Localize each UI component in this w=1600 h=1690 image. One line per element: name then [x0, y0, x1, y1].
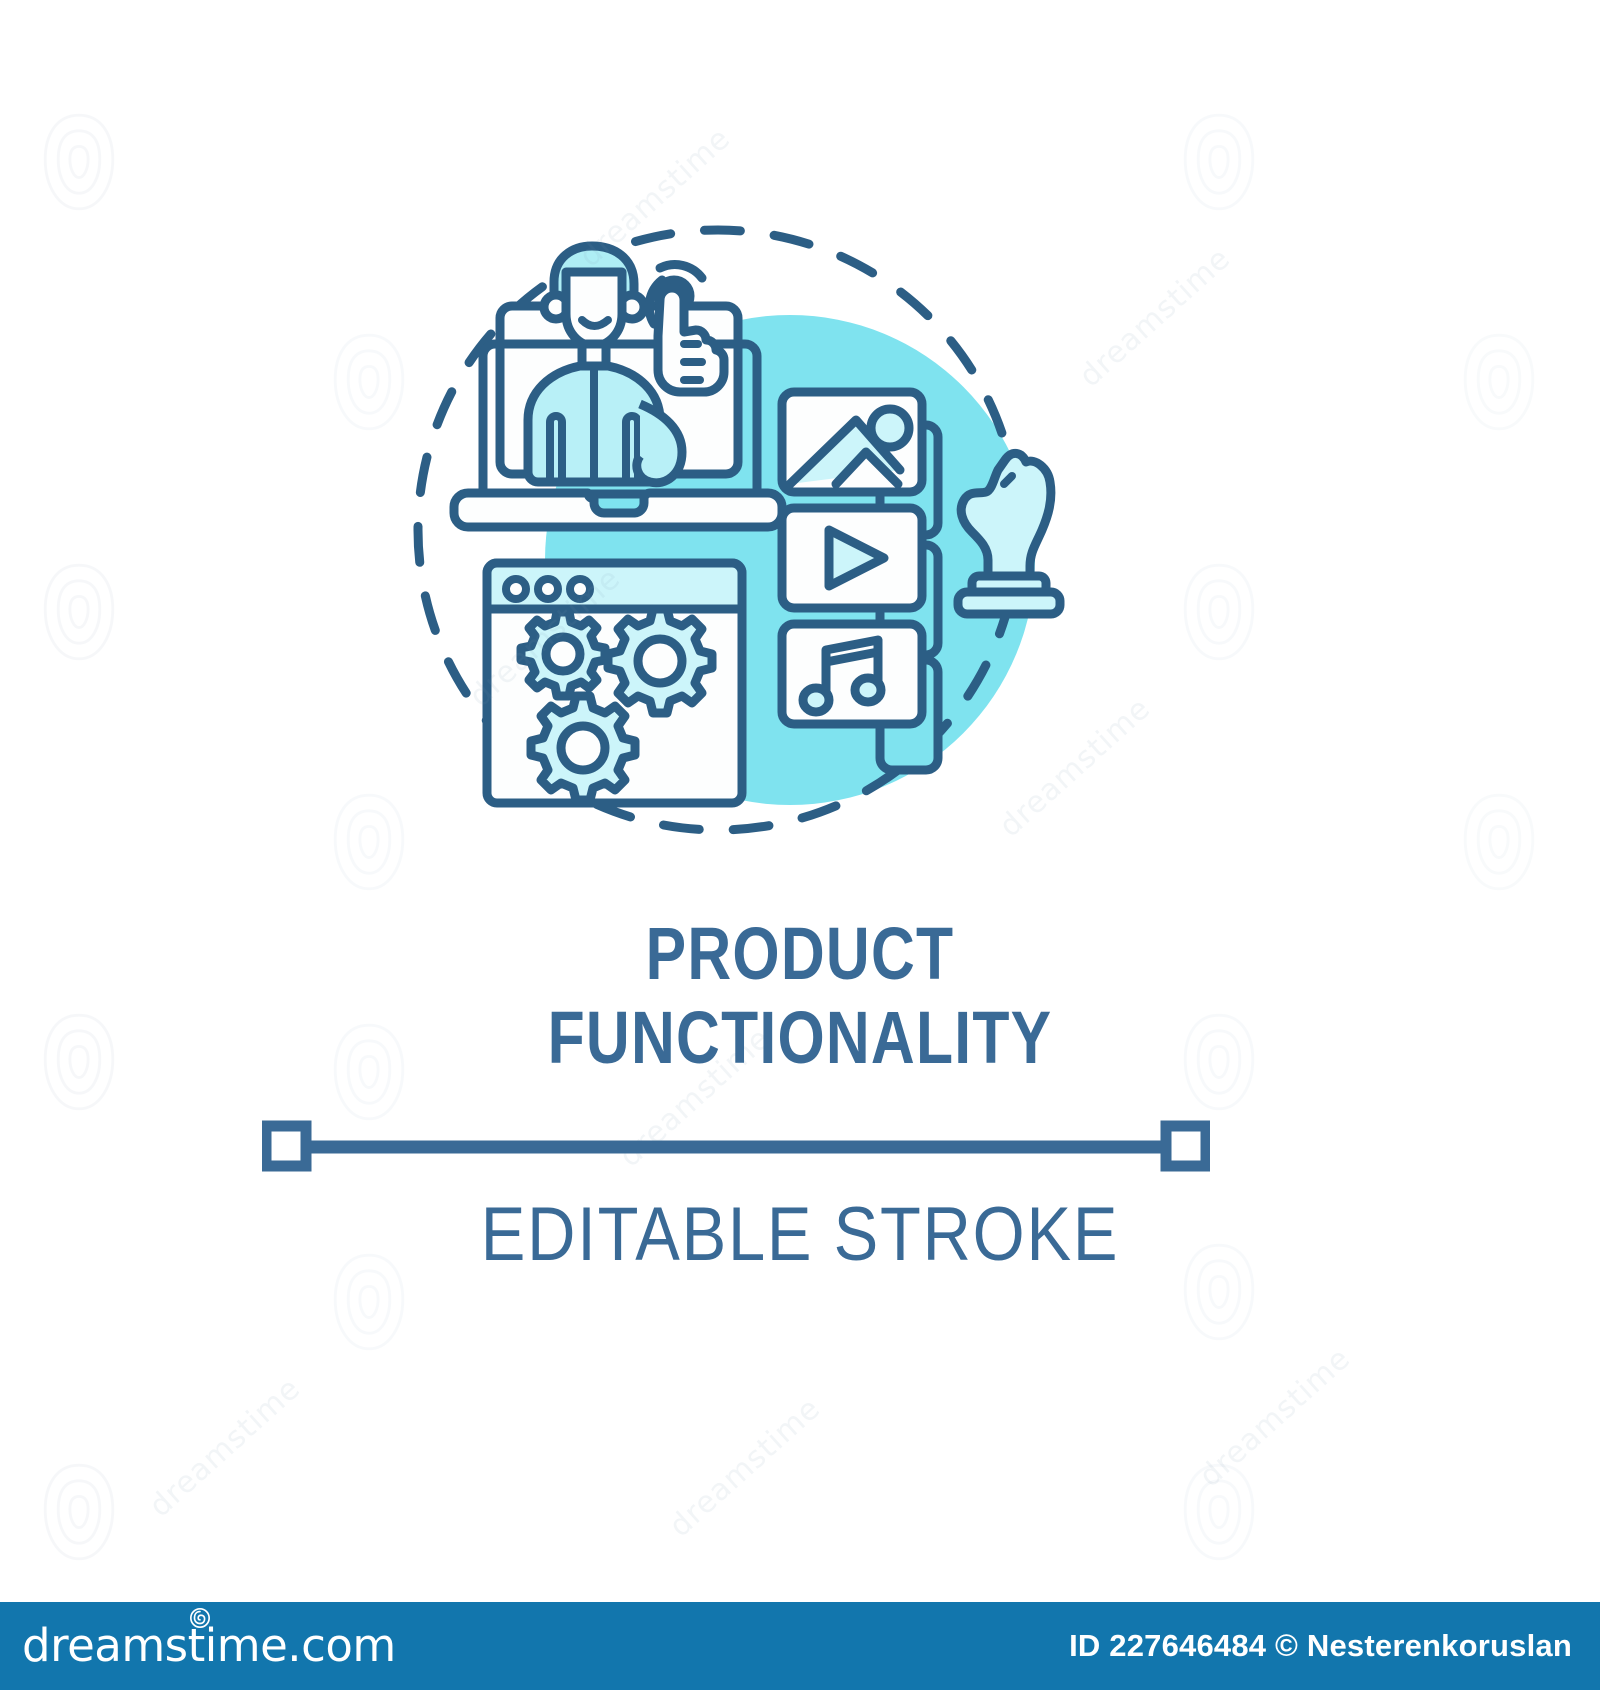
stroke-handle-left: [266, 1126, 306, 1166]
gear-icon: [531, 696, 635, 800]
browser-window: [487, 563, 742, 803]
watermark-text: dreamstime: [1193, 1341, 1358, 1494]
image-card: [782, 392, 922, 492]
music-card: [782, 624, 922, 724]
title-line-2: FUNCTIONALITY: [144, 996, 1456, 1080]
watermark-text: dreamstime: [143, 1371, 308, 1524]
footer-bar: dreamstime.com ID 227646484 © Nesterenko…: [0, 1602, 1600, 1690]
watermark-spiral-icon: [40, 1460, 118, 1564]
gear-icon: [608, 609, 712, 713]
concept-illustration: [0, 0, 1600, 900]
editable-stroke-caption: EDITABLE STROKE: [96, 1192, 1504, 1278]
browser-dot: [570, 579, 590, 599]
stroke-handle-right: [1166, 1126, 1206, 1166]
browser-dot: [538, 579, 558, 599]
stock-illustration-page: PRODUCT FUNCTIONALITY EDITABLE STROKE dr…: [0, 0, 1600, 1690]
browser-dot: [506, 579, 526, 599]
image-credit: ID 227646484 © Nesterenkoruslan: [1069, 1628, 1572, 1664]
watermark-spiral-icon: [1180, 1460, 1258, 1564]
video-card: [782, 508, 922, 608]
title-line-1: PRODUCT: [144, 912, 1456, 996]
sun-icon: [871, 409, 909, 447]
concept-title: PRODUCT FUNCTIONALITY: [0, 912, 1600, 1080]
editable-stroke-marker: [262, 1118, 1210, 1176]
gear-icon: [521, 612, 605, 696]
dreamstime-logo[interactable]: dreamstime.com: [22, 1621, 396, 1671]
watermark-text: dreamstime: [663, 1391, 828, 1544]
tap-ripple-arc: [660, 265, 702, 278]
dreamstime-spiral-icon: [189, 1607, 211, 1629]
face: [566, 272, 622, 346]
